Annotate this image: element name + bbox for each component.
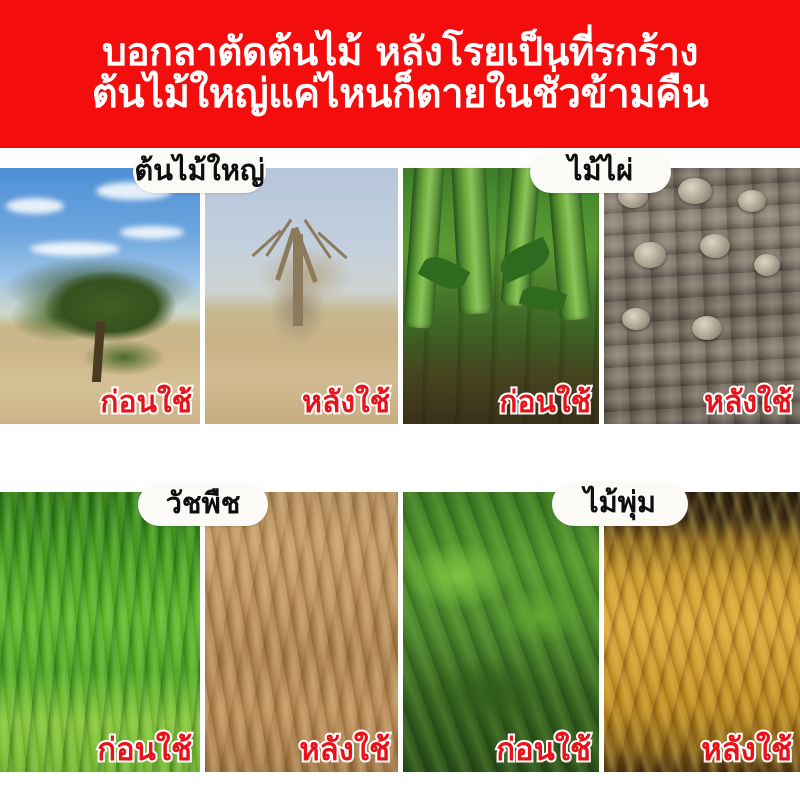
bamboo-node [738,190,766,212]
bamboo-cane [451,168,493,315]
panel-weeds-after: หลังใช้ [205,492,398,772]
photo-dead-shrubs [604,492,800,772]
caption-before: ก่อนใช้ [100,388,192,418]
panel-weeds-before: ก่อนใช้ [0,492,200,772]
category-badge-bamboo: ไม้ไผ่ [530,151,671,193]
photo-dried-grass [205,492,398,772]
cloud-shape [6,198,64,214]
category-badge-shrubs: ไม้พุ่ม [552,482,688,526]
panel-shrubs-before: ก่อนใช้ [403,492,599,772]
comparison-row-2: ก่อนใช้ หลังใช้ ก่อนใช้ หลังใช้ [0,492,800,772]
photo-green-grass [0,492,200,772]
category-label-shrubs: ไม้พุ่ม [584,488,656,520]
caption-before: ก่อนใช้ [499,388,591,418]
category-badge-weeds: วัชพืช [138,483,268,526]
category-label-weeds: วัชพืช [166,489,241,521]
caption-before: ก่อนใช้ [97,735,192,766]
panel-bamboo-after: หลังใช้ [604,168,800,424]
caption-after: หลังใช้ [299,735,390,766]
category-label-bamboo: ไม้ไผ่ [568,156,633,188]
bamboo-node [754,254,780,276]
bamboo-node [700,234,730,258]
headline-banner: บอกลาตัดต้นไม้ หลังโรยเป็นที่รกร้าง ต้นไ… [0,0,800,148]
panel-shrubs-after: หลังใช้ [604,492,800,772]
panel-bamboo-before: ก่อนใช้ [403,168,599,424]
category-badge-big-tree: ต้นไม้ใหญ่ [133,151,266,193]
caption-after: หลังใช้ [302,388,390,418]
headline-line-1: บอกลาตัดต้นไม้ หลังโรยเป็นที่รกร้าง [102,32,698,74]
promo-banner-page: บอกลาตัดต้นไม้ หลังโรยเป็นที่รกร้าง ต้นไ… [0,0,800,800]
cloud-shape [30,242,120,256]
comparison-row-1: ก่อนใช้ หลังใช้ [0,168,800,424]
caption-before: ก่อนใช้ [496,735,591,766]
photo-green-shrubs [403,492,599,772]
caption-after: หลังใช้ [704,388,792,418]
caption-after: หลังใช้ [701,735,792,766]
tree-trunk [92,322,105,382]
panel-tree-after: หลังใช้ [205,168,398,424]
bamboo-node [692,316,722,340]
bamboo-cane [403,168,445,329]
category-label-big-tree: ต้นไม้ใหญ่ [134,156,264,188]
bamboo-node [622,308,650,330]
panel-tree-before: ก่อนใช้ [0,168,200,424]
cloud-shape [120,226,184,239]
headline-line-2: ต้นไม้ใหญ่แค่ไหนก็ตายในชั่วข้ามคืน [92,73,709,116]
bamboo-node [678,178,712,204]
bamboo-node [634,242,666,268]
